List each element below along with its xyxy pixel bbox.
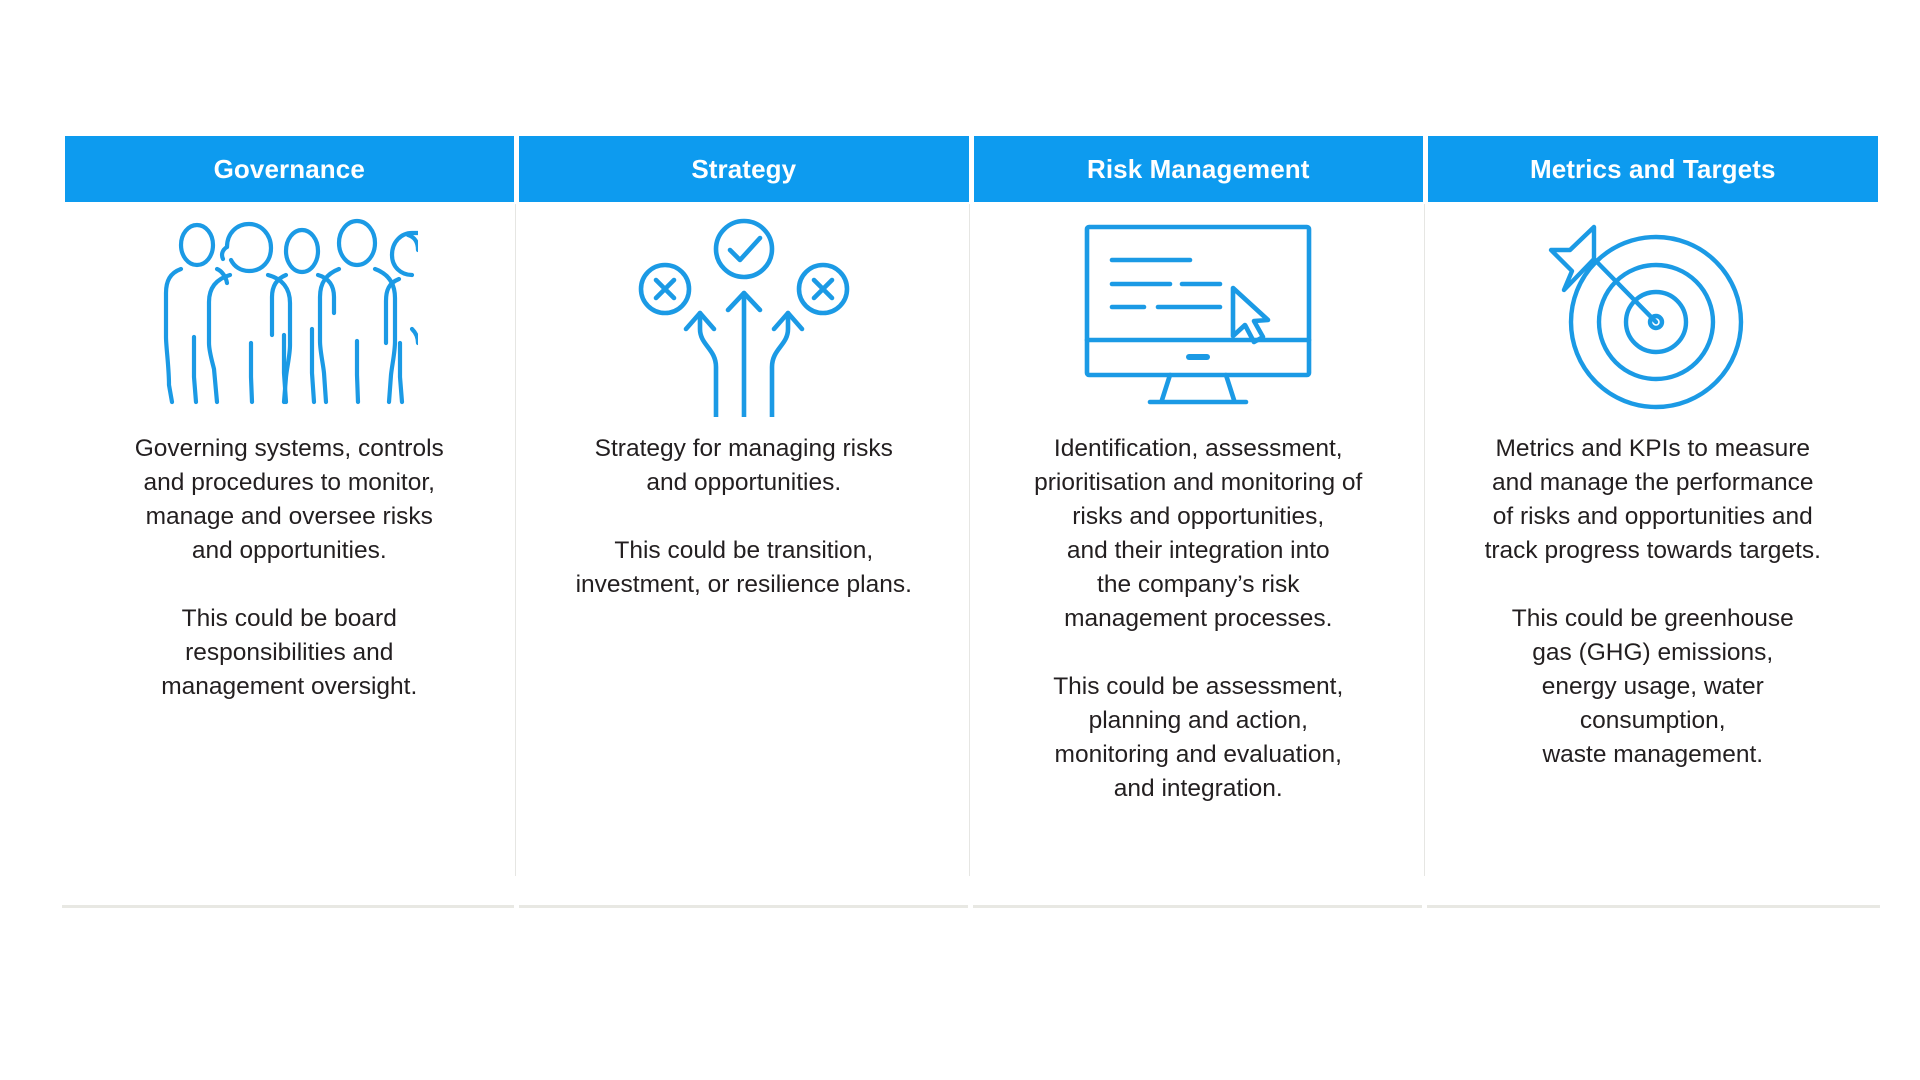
text-line: and opportunities. (70, 534, 509, 568)
icon-slot-strategy (517, 202, 972, 432)
pillar-column-risk-management: Risk Management (971, 136, 1426, 908)
branching-arrows-check-cross-icon (638, 217, 850, 417)
text-line: monitoring and evaluation, (979, 738, 1418, 772)
icon-slot-metrics-and-targets (1426, 202, 1881, 432)
text-line: This could be greenhouse (1434, 602, 1873, 636)
text-line: and integration. (979, 772, 1418, 806)
text-line: investment, or resilience plans. (525, 568, 964, 602)
paragraph: Strategy for managing risks and opportun… (525, 432, 964, 500)
text-line: consumption, (1434, 704, 1873, 738)
text-line: Metrics and KPIs to measure (1434, 432, 1873, 466)
pillar-column-governance: Governance (62, 136, 517, 908)
column-header-label: Strategy (691, 154, 796, 185)
pillar-columns: Governance (62, 136, 1880, 908)
column-body-governance: Governing systems, controls and procedur… (62, 432, 517, 704)
paragraph: Governing systems, controls and procedur… (70, 432, 509, 568)
group-of-people-icon (160, 217, 418, 417)
icon-slot-governance (62, 202, 517, 432)
text-line: This could be board (70, 602, 509, 636)
column-body-risk-management: Identification, assessment, prioritisati… (971, 432, 1426, 806)
text-line: management oversight. (70, 670, 509, 704)
text-line: energy usage, water (1434, 670, 1873, 704)
column-header-label: Metrics and Targets (1530, 154, 1776, 185)
text-line: and procedures to monitor, (70, 466, 509, 500)
monitor-with-cursor-icon (1082, 222, 1314, 412)
text-line: and their integration into (979, 534, 1418, 568)
paragraph: This could be transition, investment, or… (525, 534, 964, 602)
text-line: track progress towards targets. (1434, 534, 1873, 568)
column-body-strategy: Strategy for managing risks and opportun… (517, 432, 972, 602)
pillar-column-strategy: Strategy (517, 136, 972, 908)
text-line: This could be transition, (525, 534, 964, 568)
bottom-divider-rule (62, 905, 1880, 908)
paragraph: Metrics and KPIs to measure and manage t… (1434, 432, 1873, 568)
tcfd-four-pillar-board: Governance (62, 136, 1880, 908)
paragraph: This could be board responsibilities and… (70, 602, 509, 704)
text-line: Strategy for managing risks (525, 432, 964, 466)
text-line: management processes. (979, 602, 1418, 636)
text-line: responsibilities and (70, 636, 509, 670)
pillar-column-metrics-and-targets: Metrics and Targets (1426, 136, 1881, 908)
text-line: risks and opportunities, (979, 500, 1418, 534)
text-line: This could be assessment, (979, 670, 1418, 704)
column-header-risk-management: Risk Management (974, 136, 1424, 202)
column-body-metrics-and-targets: Metrics and KPIs to measure and manage t… (1426, 432, 1881, 772)
paragraph: This could be assessment, planning and a… (979, 670, 1418, 806)
text-line: prioritisation and monitoring of (979, 466, 1418, 500)
icon-slot-risk-management (971, 202, 1426, 432)
column-header-strategy: Strategy (519, 136, 969, 202)
column-header-label: Risk Management (1087, 154, 1310, 185)
paragraph: Identification, assessment, prioritisati… (979, 432, 1418, 636)
column-header-label: Governance (214, 154, 365, 185)
text-line: manage and oversee risks (70, 500, 509, 534)
text-line: waste management. (1434, 738, 1873, 772)
text-line: of risks and opportunities and (1434, 500, 1873, 534)
paragraph: This could be greenhouse gas (GHG) emiss… (1434, 602, 1873, 772)
column-header-governance: Governance (65, 136, 515, 202)
text-line: Governing systems, controls (70, 432, 509, 466)
column-header-metrics-and-targets: Metrics and Targets (1428, 136, 1878, 202)
text-line: gas (GHG) emissions, (1434, 636, 1873, 670)
text-line: planning and action, (979, 704, 1418, 738)
text-line: and opportunities. (525, 466, 964, 500)
target-with-arrow-icon (1548, 217, 1758, 417)
text-line: Identification, assessment, (979, 432, 1418, 466)
text-line: the company’s risk (979, 568, 1418, 602)
text-line: and manage the performance (1434, 466, 1873, 500)
